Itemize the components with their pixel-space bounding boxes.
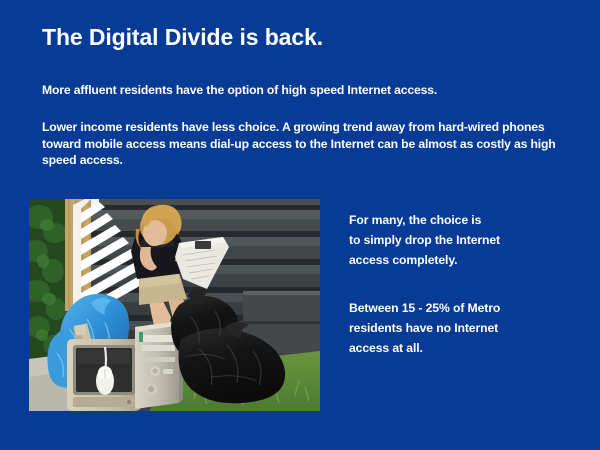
callout-text-statistic: Between 15 - 25% of Metro residents have…: [349, 298, 589, 358]
callout-2-line-2: residents have no Internet: [349, 318, 589, 338]
callout-text-choice: For many, the choice is to simply drop t…: [349, 210, 589, 270]
callout-1-line-3: access completely.: [349, 250, 589, 270]
callout-1-line-1: For many, the choice is: [349, 210, 589, 230]
discarded-computer-equipment-photo: [29, 199, 320, 411]
callout-2-line-1: Between 15 - 25% of Metro: [349, 298, 589, 318]
body-paragraph-1: More affluent residents have the option …: [42, 82, 572, 99]
slide: The Digital Divide is back. More affluen…: [0, 0, 600, 450]
callout-2-line-3: access at all.: [349, 338, 589, 358]
page-title: The Digital Divide is back.: [42, 24, 323, 51]
callout-1-line-2: to simply drop the Internet: [349, 230, 589, 250]
body-paragraph-2: Lower income residents have less choice.…: [42, 119, 568, 169]
